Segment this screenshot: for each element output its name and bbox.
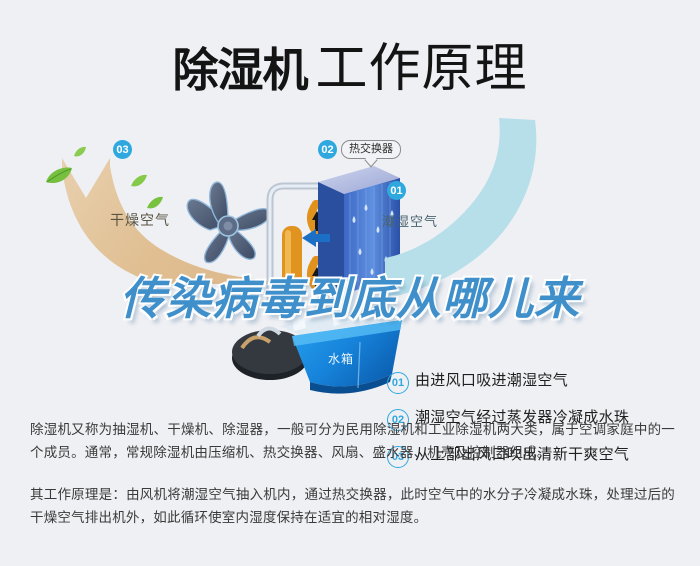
page-title-primary: 除湿机 [172,43,307,97]
description-paragraph-2: 其工作原理是：由风机将潮湿空气抽入机内，通过热交换器，此时空气中的水分子冷凝成水… [30,483,675,529]
dehumidifier-diagram: 03 干燥空气 [0,118,700,398]
step-text: 由进风口吸进潮湿空气 [415,371,568,391]
page-title-secondary: 工作原理 [315,40,527,98]
description-block: 除湿机又称为抽湿机、干燥机、除湿器，一般可分为民用除湿机和工业除湿机两大类，属于… [30,418,675,548]
heat-exchanger-badge: 02 [318,140,337,159]
page-title: 除湿机工作原理 [0,26,700,101]
dry-air-badge: 03 [113,140,132,159]
step-badge: 01 [387,372,409,394]
water-tank-label: 水箱 [328,350,354,367]
list-item: 01 由进风口吸进潮湿空气 [387,371,687,394]
leaf-icon [44,166,74,191]
humid-air-label: 潮湿空气 [382,211,438,230]
description-paragraph-1: 除湿机又称为抽湿机、干燥机、除湿器，一般可分为民用除湿机和工业除湿机两大类，属于… [30,418,675,464]
humid-air-badge: 01 [387,181,406,200]
leaf-icon [73,145,87,163]
leaf-icon [130,174,148,193]
leaf-icon [146,196,164,215]
